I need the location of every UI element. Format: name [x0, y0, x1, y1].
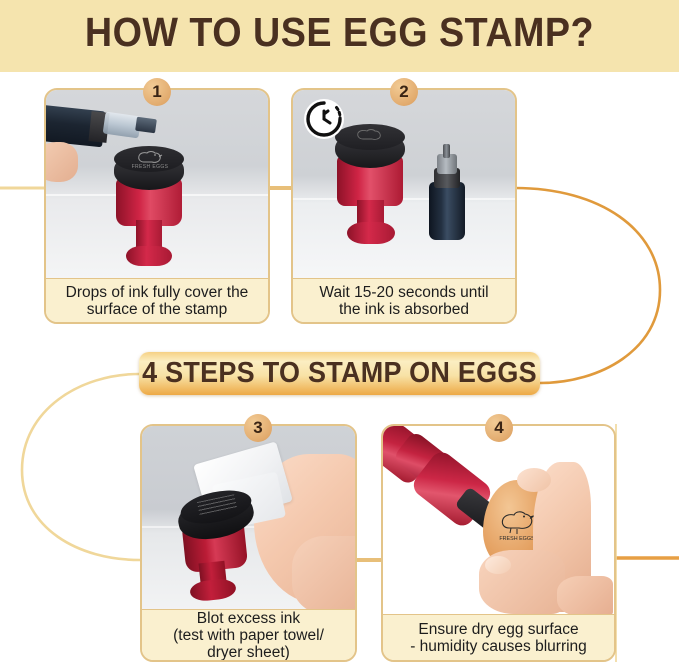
svg-text:FRESH EGGS: FRESH EGGS — [499, 536, 535, 542]
step-badge-2: 2 — [390, 78, 418, 106]
step-1-photo: FRESH EGGS — [46, 90, 268, 280]
step-2-photo — [293, 90, 515, 280]
step-3-photo — [142, 426, 355, 611]
step-2-caption: Wait 15-20 seconds until the ink is abso… — [293, 278, 515, 322]
infographic-root: HOW TO USE EGG STAMP? — [0, 0, 679, 662]
step-panel-4: FRESH EGGS Ensure dry egg surface - humi… — [381, 424, 616, 662]
section-banner: 4 STEPS TO STAMP ON EGGS — [139, 352, 540, 395]
step-3-caption: Blot excess ink (test with paper towel/ … — [142, 609, 355, 660]
step-1-caption: Drops of ink fully cover the surface of … — [46, 278, 268, 322]
step-1-number: 1 — [152, 82, 161, 101]
page-title: HOW TO USE EGG STAMP? — [27, 9, 652, 56]
step-1-caption-text: Drops of ink fully cover the surface of … — [50, 284, 264, 318]
step-2-number: 2 — [399, 82, 408, 101]
stamp-text-label: FRESH EGGS — [128, 164, 172, 170]
section-banner-text: 4 STEPS TO STAMP ON EGGS — [153, 352, 526, 395]
step-badge-3: 3 — [244, 414, 272, 442]
step-4-caption-text: Ensure dry egg surface - humidity causes… — [387, 621, 610, 655]
step-panel-2: Wait 15-20 seconds until the ink is abso… — [291, 88, 517, 324]
step-badge-4: 4 — [485, 414, 513, 442]
clock-icon — [303, 98, 345, 140]
step-panel-3: Blot excess ink (test with paper towel/ … — [140, 424, 357, 662]
step-4-caption: Ensure dry egg surface - humidity causes… — [383, 614, 614, 660]
step-4-number: 4 — [494, 418, 503, 437]
step-4-photo: FRESH EGGS — [383, 426, 614, 614]
step-3-number: 3 — [253, 418, 262, 437]
step-panel-1: FRESH EGGS Drops of ink fully cover the … — [44, 88, 270, 324]
chick-logo-icon — [353, 126, 387, 144]
step-badge-1: 1 — [143, 78, 171, 106]
step-2-caption-text: Wait 15-20 seconds until the ink is abso… — [297, 284, 511, 318]
step-3-caption-text: Blot excess ink (test with paper towel/ … — [146, 610, 351, 661]
